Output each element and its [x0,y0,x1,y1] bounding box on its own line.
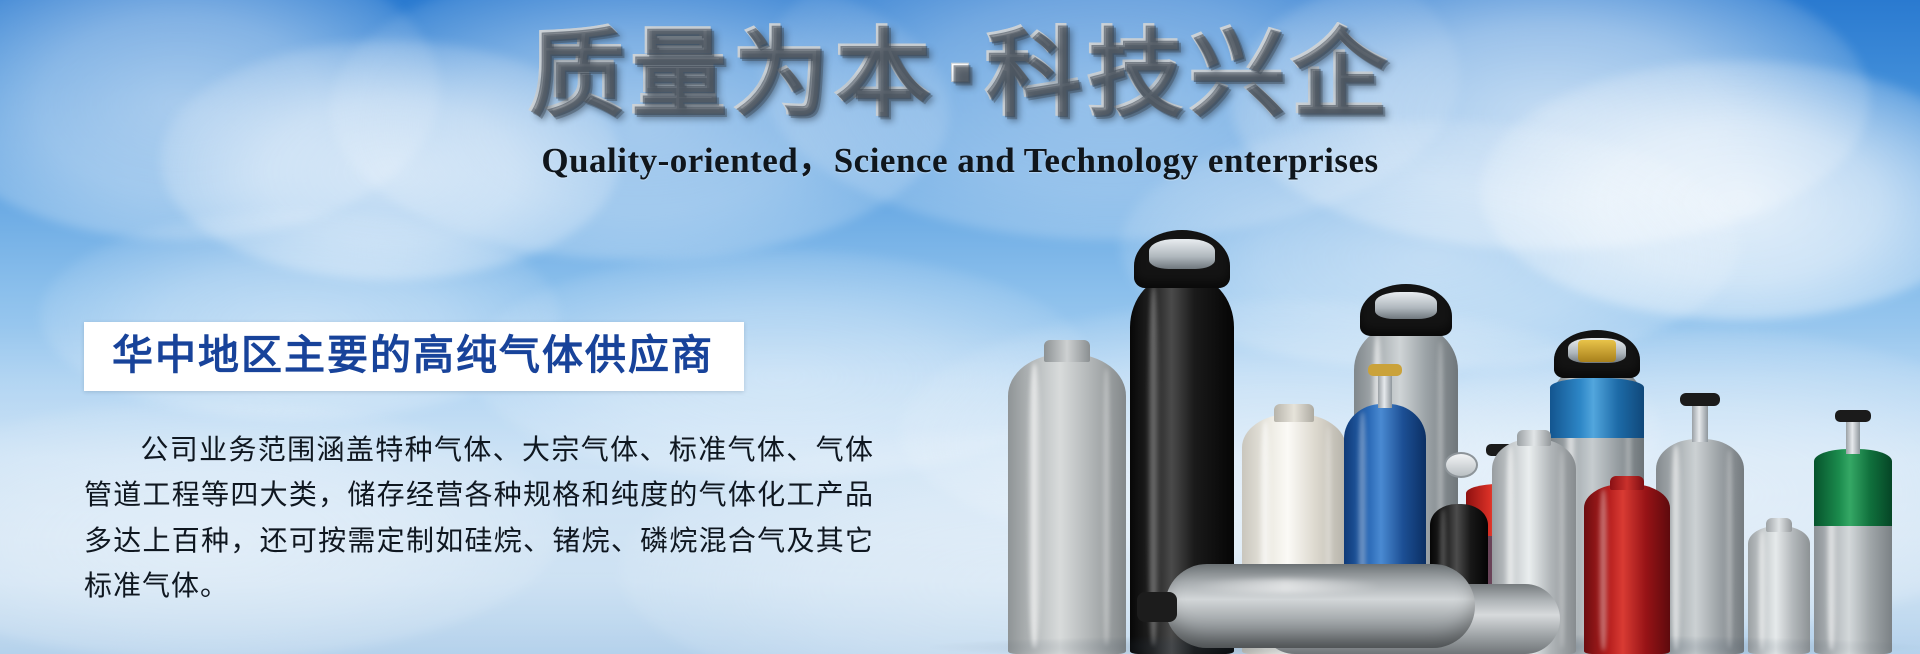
headline-subtitle: Quality-oriented，Science and Technology … [0,132,1920,183]
tank-valve-icon [1137,592,1177,622]
hero-banner: 质量为本·科技兴企 Quality-oriented，Science and T… [0,0,1920,654]
cylinder-grey-tall-left [1008,354,1126,654]
headline-slogan: 质量为本·科技兴企 [528,22,1392,126]
description-paragraph: 公司业务范围涵盖特种气体、大宗气体、标准气体、气体管道工程等四大类，储存经营各种… [84,427,874,608]
cylinder-valve-guard [1134,230,1230,288]
description-paragraph-text: 公司业务范围涵盖特种气体、大宗气体、标准气体、气体管道工程等四大类，储存经营各种… [84,433,874,602]
headline-separator: · [936,17,984,129]
copy-block: 华中地区主要的高纯气体供应商 公司业务范围涵盖特种气体、大宗气体、标准气体、气体… [84,322,884,608]
cylinder-grey-horizontal-tank [1165,564,1475,648]
cylinder-red-short-right [1584,484,1670,654]
tagline-badge-text: 华中地区主要的高纯气体供应商 [112,335,714,376]
tagline-badge: 华中地区主要的高纯气体供应商 [84,322,744,391]
headline-part-2: 科技兴企 [984,17,1392,129]
headline-container: 质量为本·科技兴企 [0,22,1920,126]
headline-part-1: 质量为本 [528,17,936,129]
